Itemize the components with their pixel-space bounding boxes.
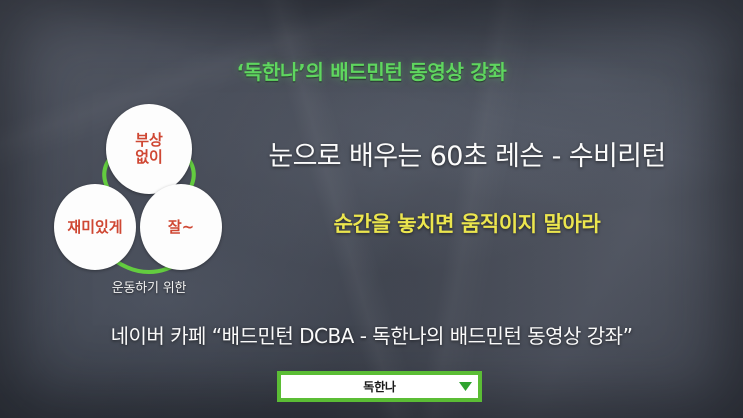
venn-circle-top: 부상 없이 (106, 104, 192, 194)
venn-circle-top-line1: 부상 (135, 131, 163, 149)
channel-dropdown[interactable]: 독한나 (277, 371, 482, 402)
venn-circle-left-label: 재미있게 (67, 219, 122, 236)
chevron-down-icon[interactable] (452, 382, 478, 391)
venn-caption: 운동하기 위한 (44, 277, 254, 296)
venn-circle-top-line2: 없이 (135, 148, 163, 166)
venn-circle-top-text: 부상 없이 (135, 132, 163, 166)
subline-text: 순간을 놓치면 움직이지 말아라 (232, 208, 702, 238)
venn-circle-right-label: 잘~ (168, 219, 194, 236)
footer-text: 네이버 카페 “배드민턴 DCBA - 독한나의 배드민턴 동영상 강좌” (0, 320, 743, 349)
venn-diagram: 부상 없이 재미있게 잘~ (44, 100, 254, 280)
venn-circle-right: 잘~ (140, 184, 222, 270)
venn-circle-left: 재미있게 (54, 184, 136, 270)
slide-canvas: ‘독한나’의 배드민턴 동영상 강좌 부상 없이 재미있게 잘~ 운동하기 위한… (0, 0, 743, 418)
channel-dropdown-value: 독한나 (281, 378, 452, 395)
page-title: ‘독한나’의 배드민턴 동영상 강좌 (0, 56, 743, 85)
headline-text: 눈으로 배우는 60초 레슨 - 수비리턴 (232, 134, 702, 173)
